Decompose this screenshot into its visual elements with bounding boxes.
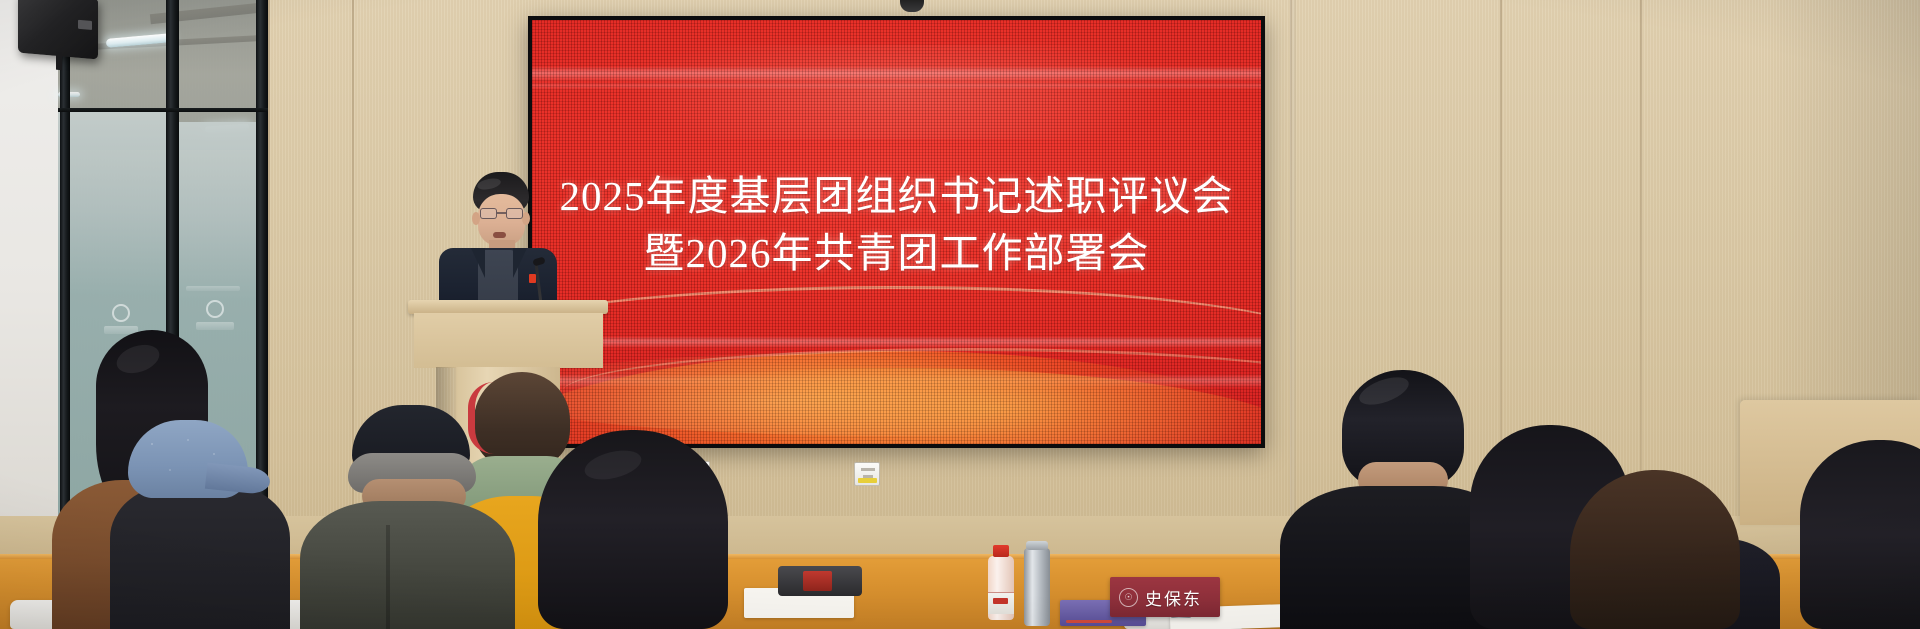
audience-i-hair	[1800, 440, 1920, 629]
led-swoosh-2	[561, 348, 1261, 438]
led-title-block: 2025年度基层团组织书记述职评议会 暨2026年共青团工作部署会	[532, 168, 1261, 281]
led-band-1	[532, 66, 1261, 82]
led-ribbon-3	[532, 351, 1261, 436]
led-glow	[576, 45, 1218, 138]
glass-decal-strip	[186, 286, 240, 291]
eyeglasses-icon	[479, 208, 524, 219]
audience-b-body	[110, 484, 290, 629]
led-band-3	[532, 336, 1261, 348]
glass-transom	[58, 108, 268, 112]
podium-top	[408, 300, 608, 314]
led-band-2	[532, 82, 1261, 90]
presenter-mouth	[493, 232, 506, 238]
audience-member-g	[1570, 470, 1740, 629]
power-outlet-with-label[interactable]	[854, 462, 880, 486]
presenter-collar-right	[513, 248, 527, 278]
led-swoosh-1	[532, 286, 1261, 406]
black-case[interactable]	[778, 566, 862, 596]
speaker-box-icon	[18, 0, 98, 59]
led-title-line-2: 暨2026年共青团工作部署会	[532, 225, 1261, 282]
audience-member-e	[538, 430, 728, 629]
pen[interactable]	[1066, 620, 1112, 623]
presenter-face	[478, 194, 525, 246]
audience-b-cap-detail	[140, 438, 232, 482]
led-title-line-1: 2025年度基层团组织书记述职评议会	[532, 168, 1261, 225]
led-screen-surface: 2025年度基层团组织书记述职评议会 暨2026年共青团工作部署会	[532, 20, 1261, 444]
audience-e-hair	[538, 430, 728, 629]
name-card-label: 史保东	[1145, 585, 1202, 610]
audience-member-c	[300, 405, 515, 629]
led-band-4	[532, 374, 1261, 388]
led-video-wall: 2025年度基层团组织书记述职评议会 暨2026年共青团工作部署会	[528, 16, 1265, 448]
audience-member-i	[1800, 440, 1920, 629]
glass-decal-circle-2	[206, 300, 224, 318]
presenter-collar-left	[471, 248, 485, 278]
thermos-flask[interactable]	[1024, 548, 1050, 626]
speaker-mount	[56, 52, 62, 71]
conference-room-scene: 2025年度基层团组织书记述职评议会 暨2026年共青团工作部署会	[0, 0, 1920, 629]
audience-g-hair	[1570, 470, 1740, 629]
audience-member-b	[110, 420, 290, 629]
audience-c-jacket	[300, 501, 515, 629]
circular-emblem-icon: ☉	[1119, 588, 1138, 607]
audience-c-arm	[386, 525, 390, 629]
glass-decal-text-2	[196, 322, 234, 330]
lapel-pin-icon	[529, 274, 536, 283]
wall-column-white	[0, 0, 58, 519]
name-card: ☉ 史保东	[1110, 577, 1220, 617]
water-bottle[interactable]	[988, 556, 1014, 620]
glass-decal-circle-1	[112, 304, 130, 322]
